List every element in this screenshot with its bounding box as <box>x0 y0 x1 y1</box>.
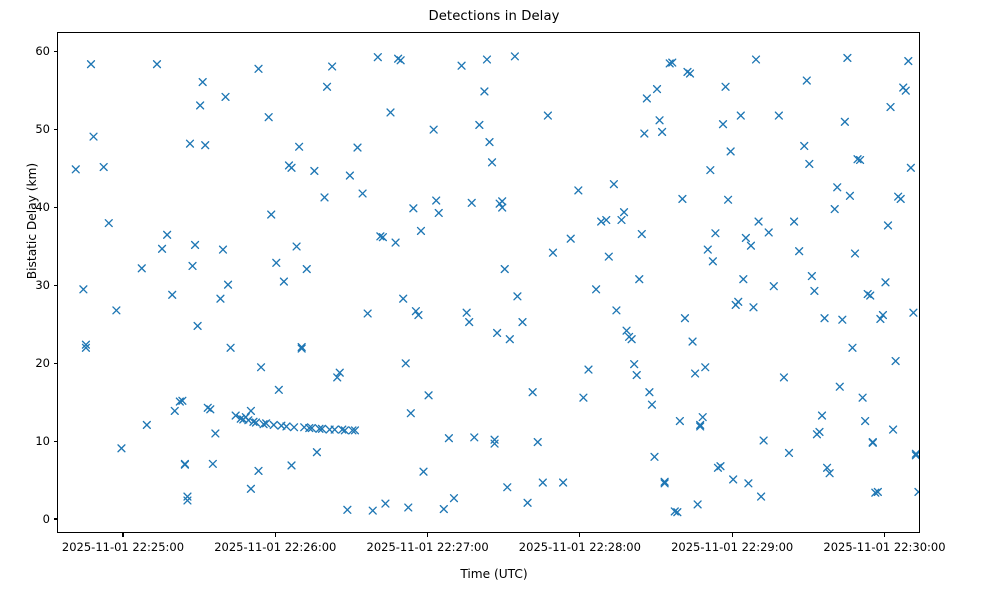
data-point <box>407 410 414 417</box>
data-point <box>702 364 709 371</box>
y-tick-label: 20 <box>9 356 50 370</box>
data-point <box>270 421 277 428</box>
data-point <box>742 234 749 241</box>
data-point <box>331 426 338 433</box>
data-point <box>580 394 587 401</box>
data-point <box>405 504 412 511</box>
data-point <box>80 286 87 293</box>
data-point <box>879 312 886 319</box>
data-point <box>722 83 729 90</box>
data-point <box>245 417 252 424</box>
data-point <box>735 298 742 305</box>
data-point <box>877 316 884 323</box>
data-point <box>679 196 686 203</box>
data-point <box>344 506 351 513</box>
data-point <box>905 58 912 65</box>
data-point <box>811 287 818 294</box>
data-point <box>648 401 655 408</box>
data-point <box>481 88 488 95</box>
data-point <box>222 93 229 100</box>
y-tick-mark <box>54 518 58 519</box>
data-point <box>786 450 793 457</box>
data-point <box>712 230 719 237</box>
data-point <box>839 316 846 323</box>
x-tick-mark <box>122 533 123 537</box>
data-point <box>329 63 336 70</box>
data-point <box>494 330 501 337</box>
data-point <box>273 259 280 266</box>
data-point <box>910 309 917 316</box>
data-point <box>694 501 701 508</box>
x-tick-mark <box>579 533 580 537</box>
x-tick-label: 2025-11-01 22:28:00 <box>519 540 641 554</box>
data-point <box>359 190 366 197</box>
y-tick-mark <box>54 51 58 52</box>
x-tick-label: 2025-11-01 22:29:00 <box>671 540 793 554</box>
data-point <box>852 250 859 257</box>
y-tick-mark <box>54 129 58 130</box>
data-point <box>291 424 298 431</box>
data-point <box>841 118 848 125</box>
data-point <box>181 460 188 467</box>
data-point <box>463 309 470 316</box>
data-point <box>550 249 557 256</box>
data-point <box>808 273 815 280</box>
y-tick-mark <box>54 441 58 442</box>
data-point <box>593 286 600 293</box>
data-point <box>499 198 506 205</box>
data-point <box>689 338 696 345</box>
data-point <box>605 253 612 260</box>
data-point <box>501 266 508 273</box>
x-tick-label: 2025-11-01 22:30:00 <box>823 540 945 554</box>
data-point <box>529 389 536 396</box>
data-point <box>643 95 650 102</box>
data-point <box>255 65 262 72</box>
data-point <box>887 104 894 111</box>
data-point <box>707 167 714 174</box>
data-point <box>745 480 752 487</box>
data-point <box>313 449 320 456</box>
data-point <box>775 112 782 119</box>
x-tick-mark <box>275 533 276 537</box>
data-point <box>737 112 744 119</box>
data-point <box>638 231 645 238</box>
data-point <box>862 418 869 425</box>
data-point <box>514 293 521 300</box>
data-point <box>100 164 107 171</box>
data-point <box>717 463 724 470</box>
data-point <box>420 468 427 475</box>
page-title: Detections in Delay <box>0 9 988 24</box>
y-tick-mark <box>54 285 58 286</box>
data-point <box>311 167 318 174</box>
data-point <box>760 437 767 444</box>
data-point <box>303 266 310 273</box>
data-point <box>846 192 853 199</box>
data-point <box>189 263 196 270</box>
data-point <box>534 439 541 446</box>
data-point <box>415 312 422 319</box>
x-tick-mark <box>427 533 428 537</box>
data-point <box>709 258 716 265</box>
data-point <box>283 423 290 430</box>
data-point <box>374 54 381 61</box>
data-point <box>402 360 409 367</box>
data-point <box>821 315 828 322</box>
data-point <box>369 507 376 514</box>
data-point <box>765 229 772 236</box>
data-point <box>397 57 404 64</box>
data-point <box>143 421 150 428</box>
data-point <box>212 430 219 437</box>
data-point <box>603 217 610 224</box>
data-point <box>468 199 475 206</box>
data-point <box>225 281 232 288</box>
data-point <box>90 133 97 140</box>
data-point <box>105 220 112 227</box>
data-point <box>849 344 856 351</box>
x-tick-label: 2025-11-01 22:26:00 <box>214 540 336 554</box>
data-point <box>885 222 892 229</box>
data-point <box>412 308 419 315</box>
data-point <box>575 187 582 194</box>
data-point <box>836 383 843 390</box>
plot-area <box>57 32 920 533</box>
y-tick-label: 0 <box>9 512 50 526</box>
data-point <box>747 242 754 249</box>
data-point <box>869 439 876 446</box>
x-tick-label: 2025-11-01 22:25:00 <box>62 540 184 554</box>
data-point <box>159 245 166 252</box>
data-point <box>154 61 161 68</box>
data-point <box>197 102 204 109</box>
data-point <box>202 142 209 149</box>
data-point <box>364 310 371 317</box>
data-point <box>727 148 734 155</box>
data-point <box>255 467 262 474</box>
data-point <box>268 211 275 218</box>
x-tick-mark <box>732 533 733 537</box>
data-point <box>499 204 506 211</box>
data-point <box>753 56 760 63</box>
data-point <box>445 435 452 442</box>
data-point <box>897 196 904 203</box>
y-tick-label: 60 <box>9 44 50 58</box>
data-point <box>560 479 567 486</box>
x-tick-label: 2025-11-01 22:27:00 <box>367 540 489 554</box>
data-point <box>567 235 574 242</box>
data-point <box>915 488 920 495</box>
data-point <box>646 389 653 396</box>
data-point <box>265 114 272 121</box>
data-point <box>758 493 765 500</box>
data-point <box>491 440 498 447</box>
data-point <box>641 130 648 137</box>
data-point <box>435 210 442 217</box>
data-point <box>288 462 295 469</box>
data-point <box>187 140 194 147</box>
y-axis-label: Bistatic Delay (km) <box>25 141 39 301</box>
data-point <box>740 276 747 283</box>
y-tick-mark <box>54 363 58 364</box>
y-tick-label: 10 <box>9 434 50 448</box>
data-point <box>720 121 727 128</box>
data-point <box>659 129 666 136</box>
data-point <box>755 218 762 225</box>
data-point <box>544 112 551 119</box>
data-point <box>730 476 737 483</box>
data-point <box>410 205 417 212</box>
data-point <box>451 495 458 502</box>
data-point <box>704 246 711 253</box>
figure-canvas: Detections in Delay 0102030405060 2025-1… <box>0 0 988 590</box>
data-point <box>819 412 826 419</box>
data-point <box>288 164 295 171</box>
data-point <box>471 434 478 441</box>
data-point <box>633 372 640 379</box>
data-point <box>184 497 191 504</box>
data-point <box>867 292 874 299</box>
data-point <box>907 164 914 171</box>
data-point <box>687 70 694 77</box>
data-point <box>902 87 909 94</box>
data-point <box>631 361 638 368</box>
data-point <box>466 319 473 326</box>
data-point <box>430 126 437 133</box>
data-point <box>275 386 282 393</box>
data-point <box>88 61 95 68</box>
data-point <box>801 143 808 150</box>
data-point <box>654 86 661 93</box>
data-point <box>610 181 617 188</box>
data-point <box>458 62 465 69</box>
data-point <box>676 418 683 425</box>
data-point <box>400 295 407 302</box>
data-point <box>138 265 145 272</box>
data-point <box>636 276 643 283</box>
data-point <box>796 248 803 255</box>
x-axis-label: Time (UTC) <box>0 567 988 581</box>
data-point <box>293 243 300 250</box>
scatter-points-layer <box>58 33 920 533</box>
data-point <box>844 54 851 61</box>
data-point <box>598 218 605 225</box>
data-point <box>803 77 810 84</box>
data-point <box>382 500 389 507</box>
data-point <box>118 445 125 452</box>
data-point <box>519 319 526 326</box>
data-point <box>227 344 234 351</box>
data-point <box>194 323 201 330</box>
data-point <box>791 218 798 225</box>
data-point <box>770 283 777 290</box>
data-point <box>321 194 328 201</box>
data-point <box>346 172 353 179</box>
data-point <box>354 144 361 151</box>
data-point <box>199 79 206 86</box>
data-point <box>476 121 483 128</box>
data-point <box>623 327 630 334</box>
data-point <box>725 196 732 203</box>
data-point <box>859 394 866 401</box>
data-point <box>207 406 214 413</box>
data-point <box>613 307 620 314</box>
data-point <box>169 291 176 298</box>
data-point <box>324 83 331 90</box>
data-point <box>209 460 216 467</box>
data-point <box>258 364 265 371</box>
data-point <box>113 307 120 314</box>
data-point <box>585 366 592 373</box>
data-point <box>831 206 838 213</box>
data-point <box>892 358 899 365</box>
data-point <box>511 53 518 60</box>
data-point <box>651 453 658 460</box>
data-point <box>618 217 625 224</box>
data-point <box>816 428 823 435</box>
data-point <box>882 279 889 286</box>
y-tick-mark <box>54 207 58 208</box>
data-point <box>806 160 813 167</box>
data-point <box>425 392 432 399</box>
data-point <box>217 295 224 302</box>
data-point <box>164 231 171 238</box>
data-point <box>192 241 199 248</box>
data-point <box>247 407 254 414</box>
data-point <box>418 227 425 234</box>
data-point <box>72 166 79 173</box>
data-point <box>392 239 399 246</box>
y-tick-label: 50 <box>9 122 50 136</box>
data-point <box>699 414 706 421</box>
data-point <box>524 499 531 506</box>
data-point <box>433 197 440 204</box>
data-point <box>780 374 787 381</box>
data-point <box>681 315 688 322</box>
data-point <box>539 479 546 486</box>
data-point <box>280 278 287 285</box>
data-point <box>890 426 897 433</box>
data-point <box>484 56 491 63</box>
data-point <box>296 143 303 150</box>
data-point <box>628 336 635 343</box>
data-point <box>504 484 511 491</box>
data-point <box>621 209 628 216</box>
data-point <box>247 485 254 492</box>
data-point <box>692 370 699 377</box>
data-point <box>489 159 496 166</box>
data-point <box>506 336 513 343</box>
data-point <box>171 407 178 414</box>
data-point <box>834 184 841 191</box>
x-tick-mark <box>884 533 885 537</box>
data-point <box>486 139 493 146</box>
data-point <box>750 304 757 311</box>
data-point <box>220 246 227 253</box>
data-point <box>387 109 394 116</box>
data-point <box>656 117 663 124</box>
data-point <box>440 506 447 513</box>
